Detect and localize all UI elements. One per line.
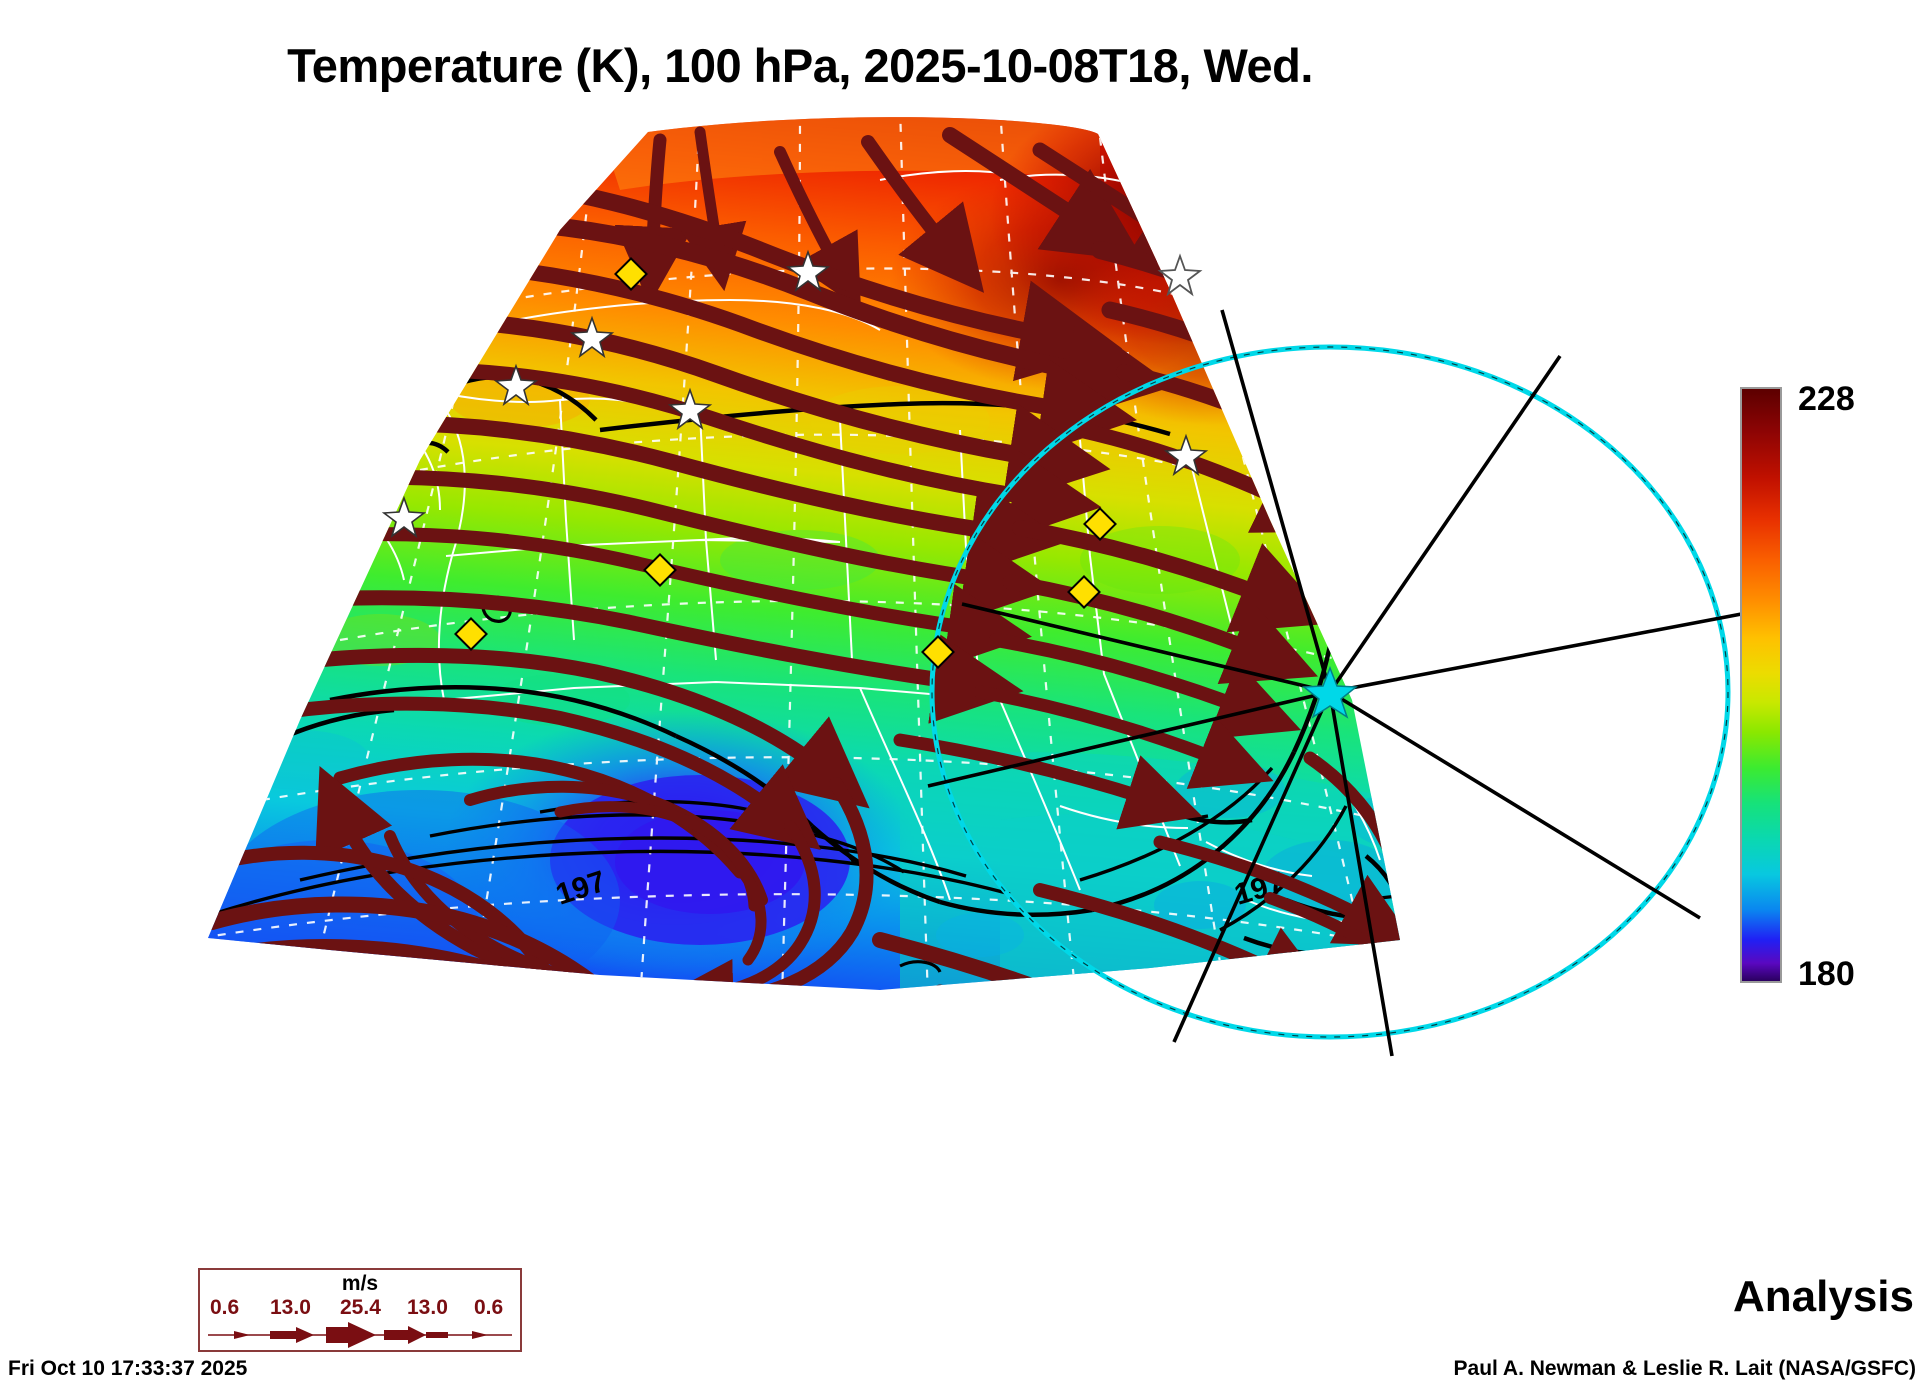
generation-timestamp: Fri Oct 10 17:33:37 2025	[8, 1357, 247, 1381]
track-line	[1330, 356, 1560, 692]
wind-value-5: 0.6	[474, 1296, 503, 1320]
analysis-label: Analysis	[1733, 1272, 1914, 1322]
wind-arrow-scale	[200, 1322, 520, 1348]
map-figure: 197 197 197 197	[0, 0, 1926, 1394]
track-line	[1330, 612, 1752, 692]
colorbar-gradient	[1740, 387, 1782, 983]
wind-value-4: 13.0	[407, 1296, 448, 1320]
wind-value-2: 13.0	[270, 1296, 311, 1320]
author-credit: Paul A. Newman & Leslie R. Lait (NASA/GS…	[1454, 1357, 1916, 1381]
contour-label-197: 197	[1293, 1217, 1340, 1275]
wind-value-3: 25.4	[340, 1296, 381, 1320]
map-canvas: 197 197 197 197	[0, 0, 1926, 1394]
page-title: Temperature (K), 100 hPa, 2025-10-08T18,…	[0, 38, 1600, 93]
wind-value-1: 0.6	[210, 1296, 239, 1320]
colorbar-max-label: 228	[1798, 380, 1855, 419]
colorbar: 228 180	[1740, 380, 1920, 990]
wind-units-label: m/s	[200, 1272, 520, 1296]
colorbar-min-label: 180	[1798, 955, 1855, 994]
wind-speed-legend: m/s 0.6 13.0 25.4 13.0 0.6	[198, 1268, 522, 1352]
